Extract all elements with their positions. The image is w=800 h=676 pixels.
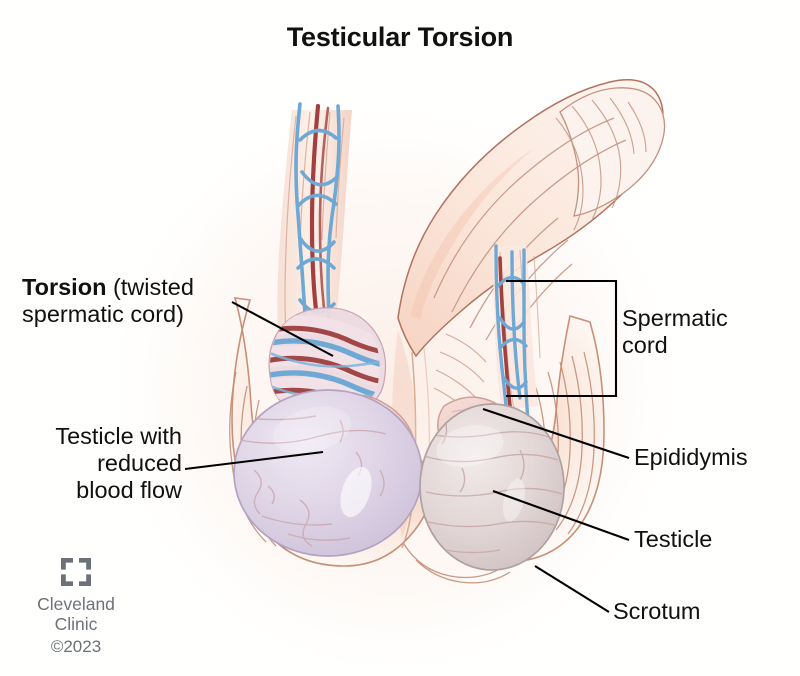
label-epididymis: Epididymis bbox=[634, 444, 748, 471]
page-title: Testicular Torsion bbox=[0, 22, 800, 53]
label-torsion: Torsion (twisted spermatic cord) bbox=[22, 274, 244, 328]
label-testicle-reduced-blood-flow: Testicle with reduced blood flow bbox=[10, 423, 182, 504]
label-torsion-bold: Torsion bbox=[22, 274, 106, 300]
label-scrotum: Scrotum bbox=[613, 598, 701, 625]
illustration-page: Testicular Torsion Torsion (twisted sper… bbox=[0, 0, 800, 676]
label-spermatic-cord: Spermatic cord bbox=[622, 305, 792, 359]
label-testicle: Testicle bbox=[634, 526, 712, 553]
cleveland-clinic-credit: Cleveland Clinic ©2023 bbox=[18, 556, 134, 658]
copyright-text: ©2023 bbox=[18, 636, 134, 658]
cleveland-clinic-wordmark: Cleveland Clinic bbox=[18, 594, 134, 634]
cleveland-clinic-pinwheel-icon bbox=[58, 556, 94, 588]
testicle-left-torsed bbox=[234, 390, 422, 556]
